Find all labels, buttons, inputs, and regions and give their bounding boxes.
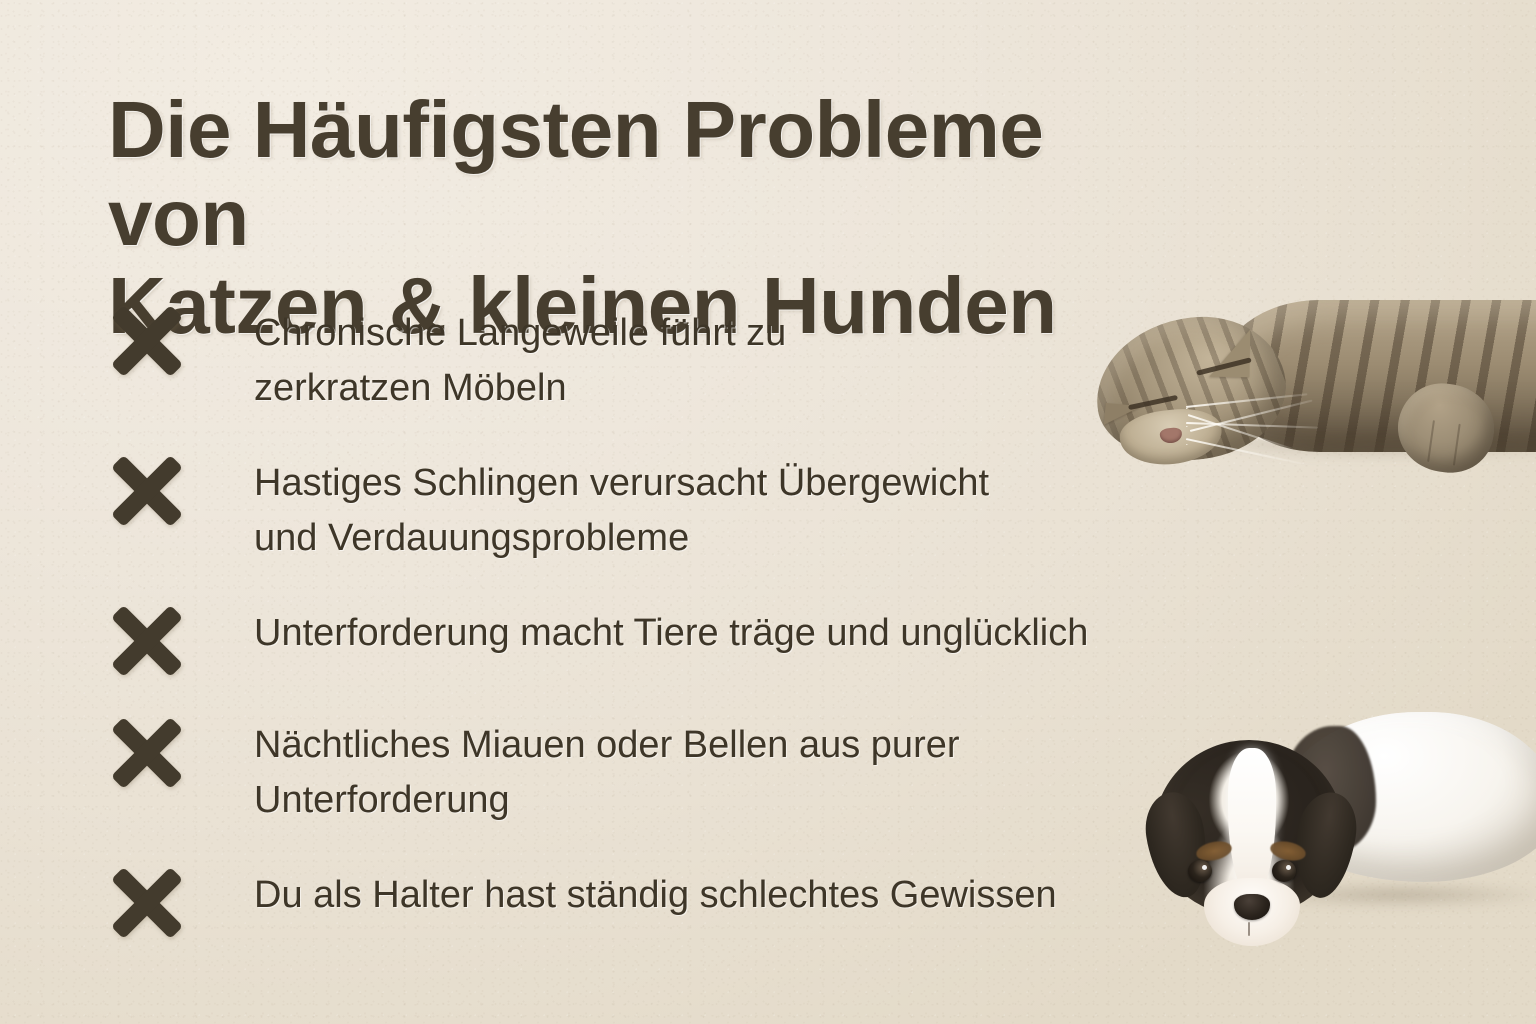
list-item: Nächtliches Miauen oder Bellen aus purer… — [108, 708, 1228, 858]
dog-nose — [1234, 894, 1270, 920]
dog-shadow — [1248, 882, 1536, 908]
cat-body — [1218, 300, 1536, 452]
cross-icon — [108, 864, 186, 942]
cat-paw — [1392, 378, 1499, 479]
list-item-label: Du als Halter hast ständig schlechtes Ge… — [254, 858, 1057, 923]
list-item-label: Hastiges Schlingen verursacht Übergewich… — [254, 446, 989, 566]
dog-ear-right — [1288, 788, 1362, 902]
list-item-label: Unterforderung macht Tiere träge und ung… — [254, 596, 1088, 661]
list-item: Unterforderung macht Tiere träge und ung… — [108, 596, 1228, 708]
cross-icon — [108, 302, 186, 380]
dog-mouth — [1248, 922, 1250, 936]
cross-icon — [108, 602, 186, 680]
cross-icon — [108, 452, 186, 530]
list-item-label: Nächtliches Miauen oder Bellen aus purer… — [254, 708, 960, 828]
dog-face-blaze — [1228, 748, 1276, 898]
list-item: Hastiges Schlingen verursacht Übergewich… — [108, 446, 1228, 596]
list-item: Du als Halter hast ständig schlechtes Ge… — [108, 858, 1228, 970]
dog-eye-right — [1272, 860, 1296, 882]
list-item: Chronische Langeweile führt zu zerkratze… — [108, 296, 1228, 446]
dog-tan-marking-right — [1269, 838, 1308, 863]
cross-icon — [108, 714, 186, 792]
dog-body — [1278, 712, 1536, 882]
list-item-label: Chronische Langeweile führt zu zerkratze… — [254, 296, 786, 416]
problem-list: Chronische Langeweile führt zu zerkratze… — [108, 296, 1228, 970]
poster-canvas: Die Häufigsten Probleme von Katzen & kle… — [0, 0, 1536, 1024]
